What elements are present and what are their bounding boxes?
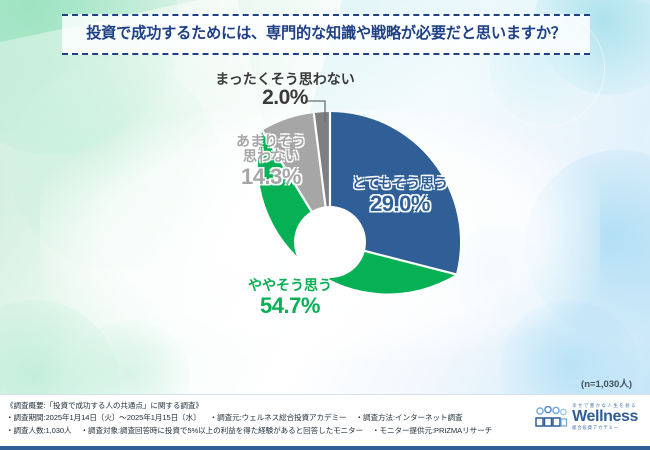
survey-target: ・調査対象:調査回答時に投資で5%以上の利益を得た経験があると回答したモニター	[80, 426, 363, 435]
leader-line-not-at-all	[303, 98, 335, 124]
logo-tagline-bottom: 総合投資アカデミー	[572, 426, 638, 430]
title-band: 投資で成功するためには、専門的な知識や戦略が必要だと思いますか？	[62, 14, 590, 55]
donut-chart-svg	[185, 106, 475, 378]
donut-hole	[294, 206, 366, 278]
survey-count: ・調査人数:1,030人	[6, 426, 71, 435]
logo-name: Wellness	[572, 409, 638, 425]
footer-accent-bar	[0, 446, 650, 450]
people-group-icon	[534, 406, 568, 428]
infographic-root: 投資で成功するためには、専門的な知識や戦略が必要だと思いますか？	[0, 0, 650, 450]
page-title: 投資で成功するためには、専門的な知識や戦略が必要だと思いますか？	[66, 25, 586, 43]
donut-chart: とてもそう思う 29.0% ややそう思う 54.7% あまりそう 思わない 14…	[185, 106, 475, 378]
survey-overview-text: 《調査概要:「投資で成功する人の共通点」に関する調査》 ・調査期間:2025年1…	[6, 400, 536, 437]
footer-line-3: ・調査人数:1,030人・調査対象:調査回答時に投資で5%以上の利益を得た経験が…	[6, 425, 536, 437]
footer-line-2: ・調査期間:2025年1月14日〔火〕〜2025年1月15日〔水〕・調査元:ウェ…	[6, 412, 536, 424]
survey-method: ・調査方法:インターネット調査	[356, 413, 463, 422]
monitor-provider: ・モニター提供元:PRIZMAリサーチ	[372, 426, 492, 435]
footer-line-1: 《調査概要:「投資で成功する人の共通点」に関する調査》	[6, 400, 536, 412]
survey-source: ・調査元:ウェルネス総合投資アカデミー	[210, 413, 347, 422]
sample-size-note: (n=1,030人)	[581, 376, 632, 390]
footer: 《調査概要:「投資で成功する人の共通点」に関する調査》 ・調査期間:2025年1…	[0, 394, 650, 450]
survey-period: ・調査期間:2025年1月14日〔火〕〜2025年1月15日〔水〕	[6, 413, 201, 422]
wellness-logo: 幸せで豊かな人生を創る Wellness 総合投資アカデミー	[534, 404, 638, 431]
logo-text: 幸せで豊かな人生を創る Wellness 総合投資アカデミー	[572, 404, 638, 431]
